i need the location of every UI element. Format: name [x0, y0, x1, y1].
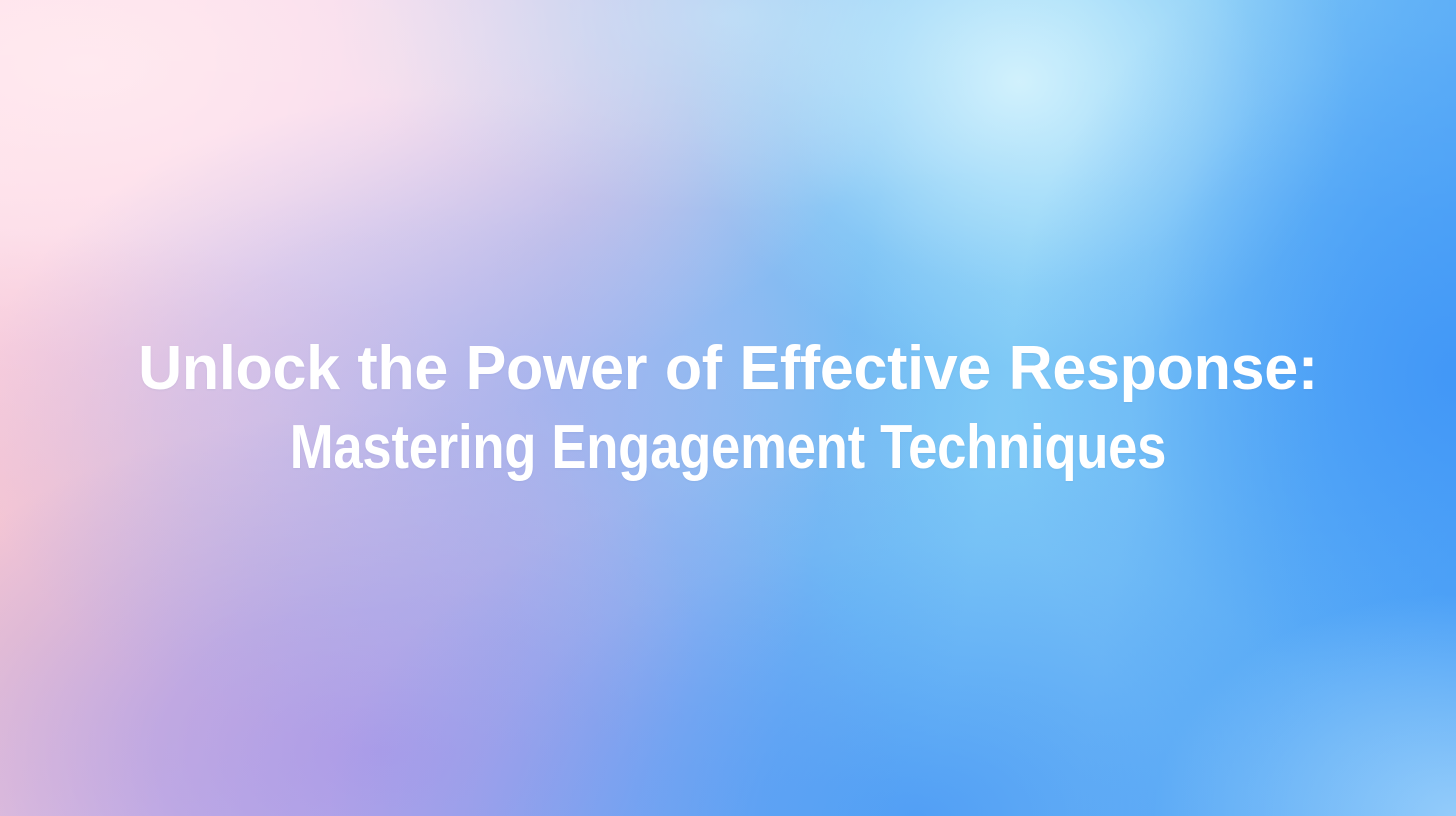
page-title-line-2: Mastering Engagement Techniques	[125, 408, 1331, 487]
page-title-line-1: Unlock the Power of Effective Response:	[30, 329, 1427, 408]
headline-container: Unlock the Power of Effective Response: …	[0, 0, 1456, 816]
page-title: Unlock the Power of Effective Response: …	[8, 329, 1448, 488]
hero-banner: Unlock the Power of Effective Response: …	[0, 0, 1456, 816]
